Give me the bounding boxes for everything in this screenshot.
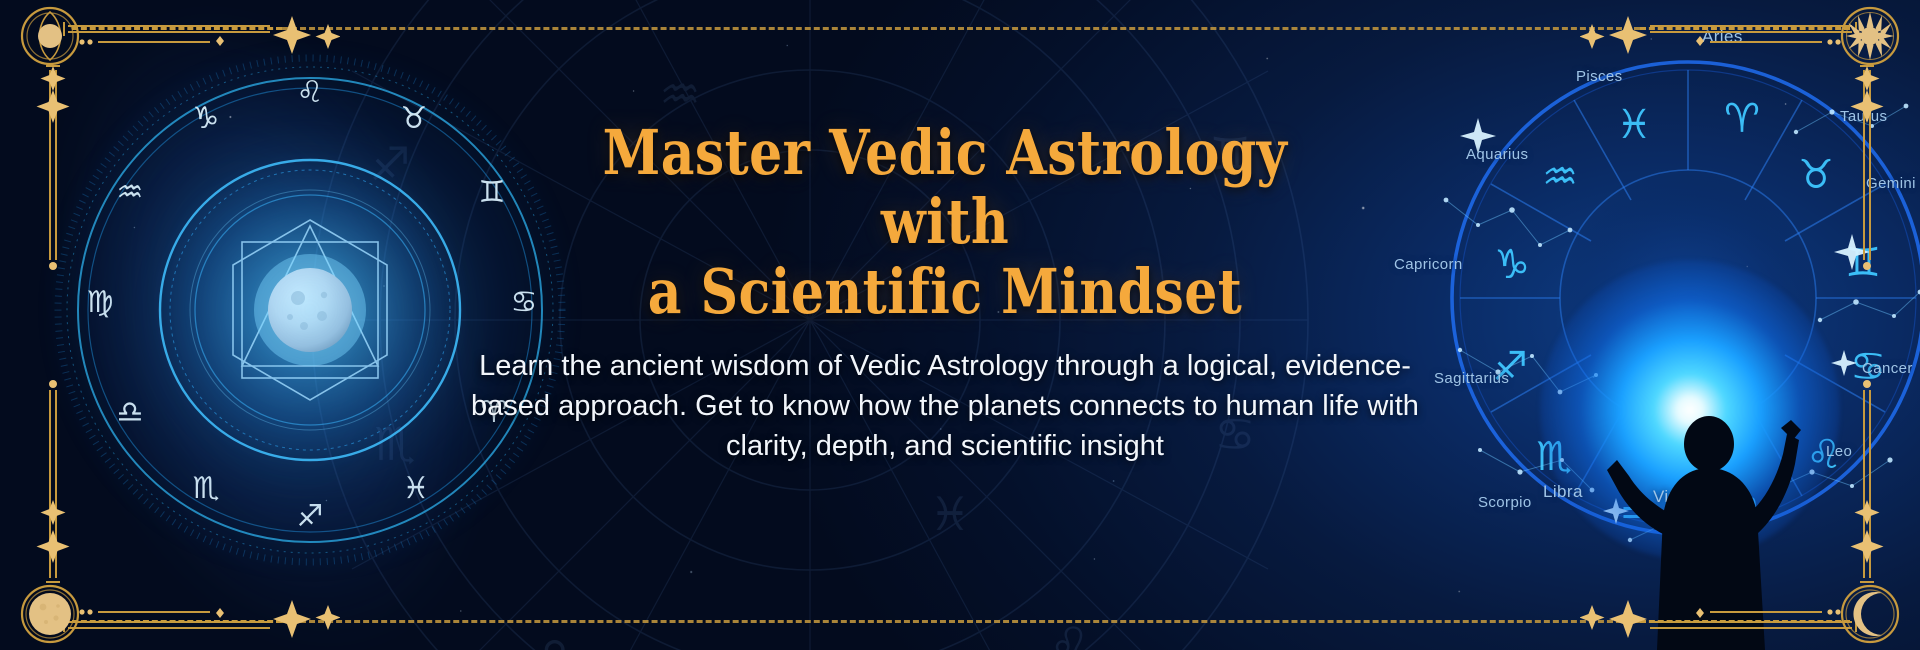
constellation-label-gemini: Gemini [1866,175,1916,192]
constellation-label-leo: Leo [1826,443,1852,460]
svg-text:♓: ♓ [1616,102,1652,148]
svg-text:♑: ♑ [534,0,575,6]
constellation-label-scorpio: Scorpio [1478,494,1532,511]
constellation-label-cancer: Cancer [1862,360,1913,377]
hero-subcopy: Learn the ancient wisdom of Vedic Astrol… [470,346,1420,466]
person-reaching-silhouette [1605,400,1825,650]
page-title: Master Vedic Astrology with a Scientific… [546,118,1344,326]
constellation-label-taurus: Taurus [1840,108,1887,125]
constellation-label-sagittarius: Sagittarius [1434,370,1509,387]
svg-text:♑: ♑ [1494,242,1530,288]
headline-line-1: Master Vedic Astrology with [603,116,1288,258]
svg-text:♉: ♉ [1798,152,1834,198]
svg-text:♓: ♓ [929,487,970,541]
vedic-astrology-hero-banner: ♈♉ ♊♋ ♌♍ ♎♏ ♐♑ ♒♓ [0,0,1920,650]
svg-text:♎: ♎ [534,627,575,650]
constellation-label-libra: Libra [1543,482,1583,502]
constellation-label-aries: Aries [1702,27,1743,47]
crescent-moon-emblem-icon [1832,576,1908,650]
constellation-label-aquarius: Aquarius [1466,146,1528,163]
constellation-label-pisces: Pisces [1576,68,1623,85]
svg-text:♌: ♌ [1049,617,1090,650]
svg-text:♉: ♉ [1039,0,1080,1]
svg-text:♒: ♒ [659,67,700,121]
svg-text:♈: ♈ [1724,96,1760,142]
hero-copy-block: Master Vedic Astrology with a Scientific… [470,118,1420,466]
svg-text:♒: ♒ [1542,154,1578,200]
headline-line-2: a Scientific Mindset [648,255,1242,328]
